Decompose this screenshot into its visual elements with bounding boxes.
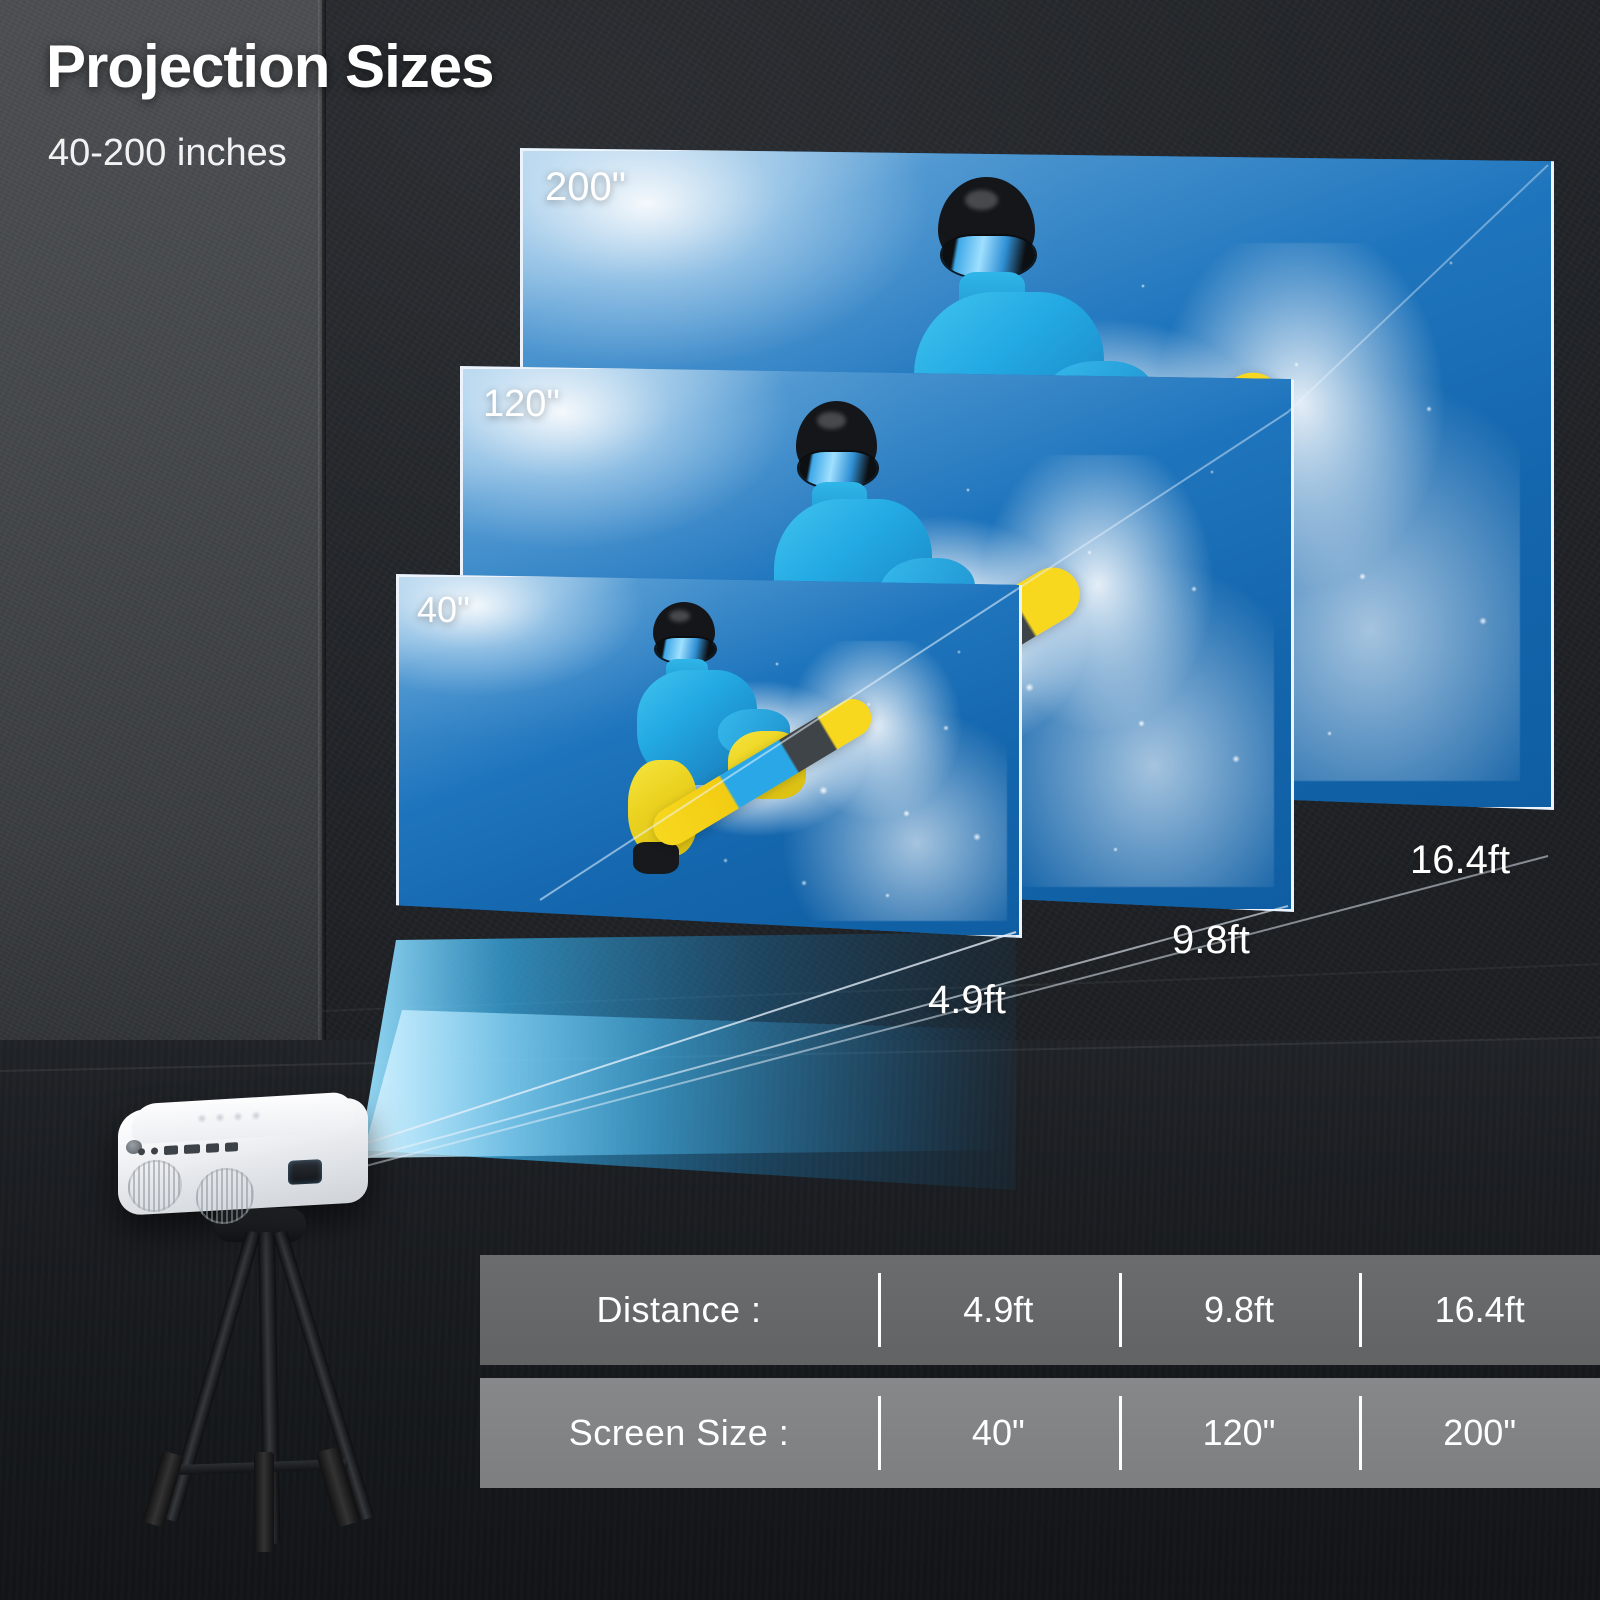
port-hdmi-1-icon xyxy=(184,1144,200,1154)
spec-cell-distance-1: 4.9ft xyxy=(878,1255,1119,1365)
spec-cell-distance-3: 16.4ft xyxy=(1359,1255,1600,1365)
distance-marker-9-8ft: 9.8ft xyxy=(1172,918,1250,963)
port-usb-icon xyxy=(164,1145,178,1155)
port-hdmi-2-icon xyxy=(206,1143,219,1153)
spec-row-distance: Distance : 4.9ft 9.8ft 16.4ft xyxy=(480,1255,1600,1365)
page-title: Projection Sizes xyxy=(46,32,493,101)
spec-row-distance-label: Distance : xyxy=(480,1289,878,1331)
spec-cell-distance-2: 9.8ft xyxy=(1119,1255,1360,1365)
screen-label-40: 40" xyxy=(417,589,470,631)
page-subtitle: 40-200 inches xyxy=(48,132,287,175)
tripod-foot-center xyxy=(254,1452,274,1552)
projection-sizes-infographic: Projection Sizes 40-200 inches 200" xyxy=(0,0,1600,1600)
screen-40-rider xyxy=(399,577,1019,935)
spec-cell-screen-2: 120" xyxy=(1119,1378,1360,1488)
screen-label-120: 120" xyxy=(483,383,560,426)
spec-row-distance-values: 4.9ft 9.8ft 16.4ft xyxy=(878,1255,1600,1365)
port-av-icon xyxy=(225,1142,238,1152)
spec-cell-screen-1: 40" xyxy=(878,1378,1119,1488)
port-aux-icon xyxy=(138,1148,145,1155)
port-power-icon xyxy=(151,1147,158,1154)
screen-label-200: 200" xyxy=(545,165,626,210)
spec-row-screen-size-label: Screen Size : xyxy=(480,1412,878,1454)
distance-marker-16-4ft: 16.4ft xyxy=(1410,838,1510,883)
spec-row-screen-size: Screen Size : 40" 120" 200" xyxy=(480,1378,1600,1488)
spec-cell-screen-3: 200" xyxy=(1359,1378,1600,1488)
spec-row-screen-size-values: 40" 120" 200" xyxy=(878,1378,1600,1488)
projection-screen-40: 40" xyxy=(396,574,1022,938)
wall-corner-edge xyxy=(318,0,326,1075)
distance-marker-4-9ft: 4.9ft xyxy=(928,978,1006,1023)
projector-lens-icon xyxy=(288,1159,322,1185)
